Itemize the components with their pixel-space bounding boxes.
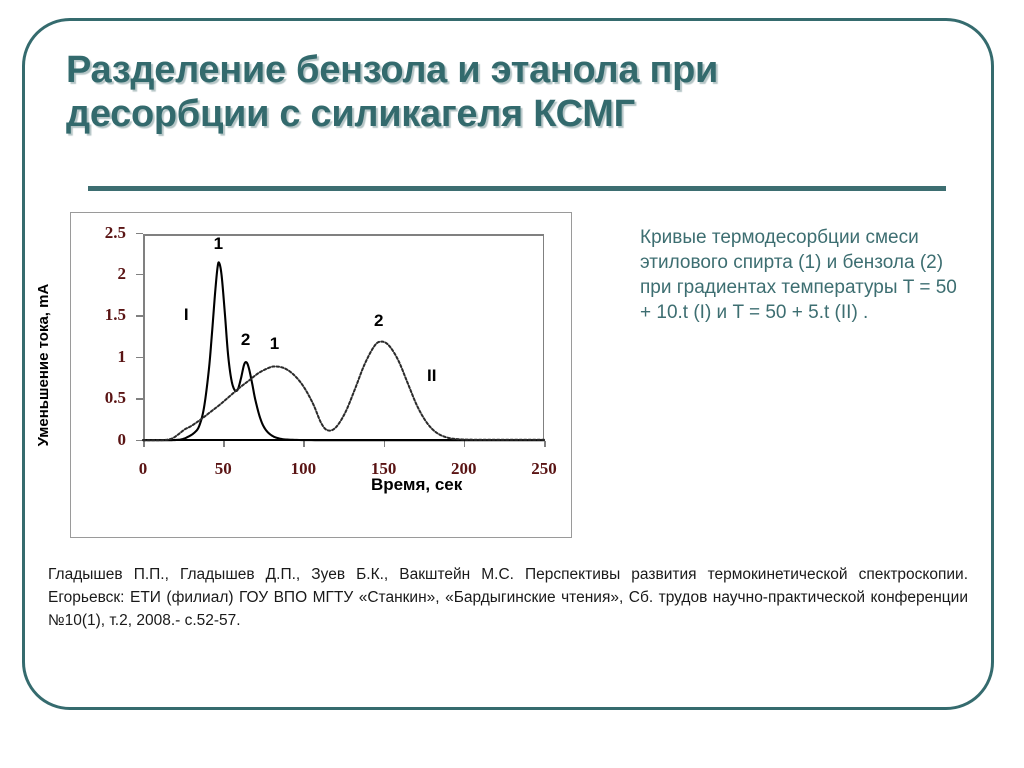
annotation-1: I (184, 305, 189, 325)
chart-series-curve-I (143, 262, 544, 440)
x-tick-label-0: 0 (139, 459, 148, 479)
y-tick-label-5: 2.5 (105, 223, 126, 243)
chart-series-curve-II (143, 342, 544, 441)
annotation-4: 2 (374, 311, 383, 331)
y-tick-label-0: 0 (118, 430, 127, 450)
chart-plot-area: 0 0.5 1 1.5 2 2.5 0 50 (143, 234, 544, 441)
citation-reference: Гладышев П.П., Гладышев Д.П., Зуев Б.К.,… (48, 563, 968, 632)
annotation-3: 1 (270, 334, 279, 354)
chart-caption: Кривые термодесорбции смеси этилового сп… (640, 225, 970, 325)
y-tick-label-1: 0.5 (105, 388, 126, 408)
chart-x-axis-title: Время, сек (371, 475, 462, 495)
y-tick-2: 1 (136, 357, 143, 359)
y-tick-label-2: 1 (118, 347, 127, 367)
annotation-5: II (427, 366, 436, 386)
y-tick-label-3: 1.5 (105, 305, 126, 325)
annotation-2: 2 (241, 330, 250, 350)
y-tick-1: 0.5 (136, 398, 143, 400)
chart-container: Уменьшение тока, mA 0 0.5 1 1.5 2 (70, 212, 572, 538)
title-divider (88, 186, 946, 191)
x-tick-3: 150 (384, 441, 386, 447)
page-title-line2: десорбции с силикагеля КСМГ (66, 92, 956, 136)
page-title-line1: Разделение бензола и этанола при (66, 49, 718, 91)
x-tick-0: 0 (143, 441, 145, 447)
y-tick-label-4: 2 (118, 264, 127, 284)
chart-y-axis-title: Уменьшение тока, mA (35, 265, 52, 465)
y-tick-5: 2.5 (136, 233, 143, 235)
x-tick-4: 200 (464, 441, 466, 447)
y-tick-3: 1.5 (136, 315, 143, 317)
page-title: Разделение бензола и этанола при десорбц… (66, 48, 956, 136)
x-tick-label-2: 100 (291, 459, 317, 479)
x-tick-1: 50 (223, 441, 225, 447)
slide-root: Разделение бензола и этанола при десорбц… (0, 0, 1024, 768)
x-tick-label-1: 50 (215, 459, 232, 479)
x-tick-5: 250 (544, 441, 546, 447)
y-tick-0: 0 (136, 440, 143, 442)
y-tick-4: 2 (136, 274, 143, 276)
chart-curves (143, 234, 544, 441)
x-tick-label-5: 250 (531, 459, 557, 479)
x-tick-2: 100 (303, 441, 305, 447)
annotation-0: 1 (214, 234, 223, 254)
